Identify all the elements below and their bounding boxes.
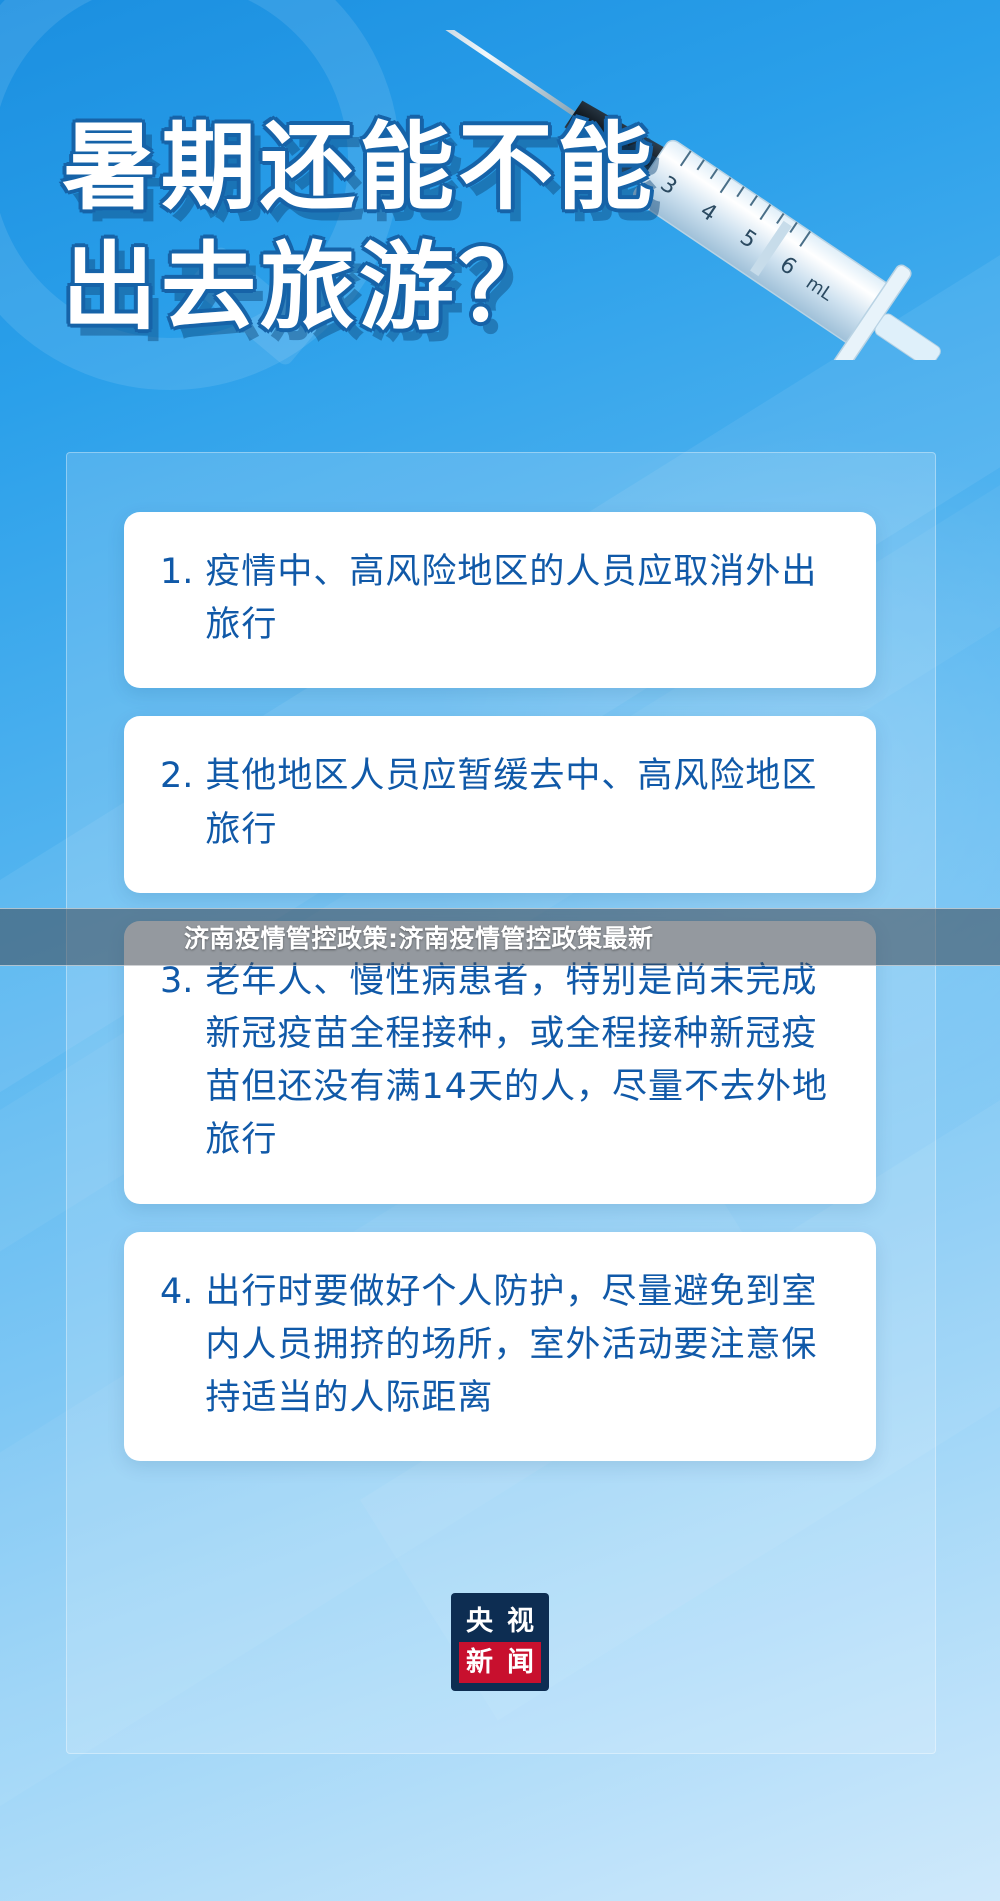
logo-char-yang: 央 bbox=[459, 1601, 500, 1642]
logo-char-xin: 新 bbox=[459, 1642, 500, 1683]
strip-divider-bottom bbox=[0, 965, 1000, 966]
list-item-text: 其他地区人员应暂缓去中、高风险地区旅行 bbox=[205, 750, 840, 856]
list-item: 4. 出行时要做好个人防护，尽量避免到室内人员拥挤的场所，室外活动要注意保持适当… bbox=[124, 1232, 876, 1462]
advice-list: 1. 疫情中、高风险地区的人员应取消外出旅行 2. 其他地区人员应暂缓去中、高风… bbox=[124, 512, 876, 1489]
list-item-text: 老年人、慢性病患者，特别是尚未完成新冠疫苗全程接种，或全程接种新冠疫苗但还没有满… bbox=[205, 955, 840, 1168]
logo-char-wen: 闻 bbox=[500, 1642, 541, 1683]
cctv-news-logo: 央 视 新 闻 bbox=[451, 1593, 549, 1691]
list-item: 1. 疫情中、高风险地区的人员应取消外出旅行 bbox=[124, 512, 876, 688]
list-item-number: 1. bbox=[160, 546, 205, 599]
watermark-strip: 济南疫情管控政策:济南疫情管控政策最新 bbox=[0, 908, 1000, 966]
list-item-number: 4. bbox=[160, 1266, 205, 1319]
logo-char-shi: 视 bbox=[500, 1601, 541, 1642]
syringe-tick-5: 5 bbox=[735, 225, 761, 254]
list-item-text: 出行时要做好个人防护，尽量避免到室内人员拥挤的场所，室外活动要注意保持适当的人际… bbox=[205, 1266, 840, 1426]
syringe-tick-3: 3 bbox=[656, 172, 682, 201]
strip-divider-top bbox=[0, 908, 1000, 909]
syringe-unit-label: mL bbox=[802, 272, 837, 305]
list-item-text: 疫情中、高风险地区的人员应取消外出旅行 bbox=[205, 546, 840, 652]
poster-canvas: 3 4 5 6 mL 暑期还能不能 出去旅游？ 1. 疫情中、高风险地区的人员应… bbox=[0, 0, 1000, 1901]
list-item: 2. 其他地区人员应暂缓去中、高风险地区旅行 bbox=[124, 716, 876, 892]
headline: 暑期还能不能 出去旅游？ bbox=[62, 112, 656, 344]
watermark-text: 济南疫情管控政策:济南疫情管控政策最新 bbox=[184, 919, 654, 955]
headline-line-2: 出去旅游？ bbox=[62, 232, 656, 344]
syringe-tick-6: 6 bbox=[775, 252, 801, 281]
headline-line-1: 暑期还能不能 bbox=[62, 112, 656, 224]
list-item-number: 2. bbox=[160, 750, 205, 803]
syringe-tick-4: 4 bbox=[695, 198, 721, 227]
